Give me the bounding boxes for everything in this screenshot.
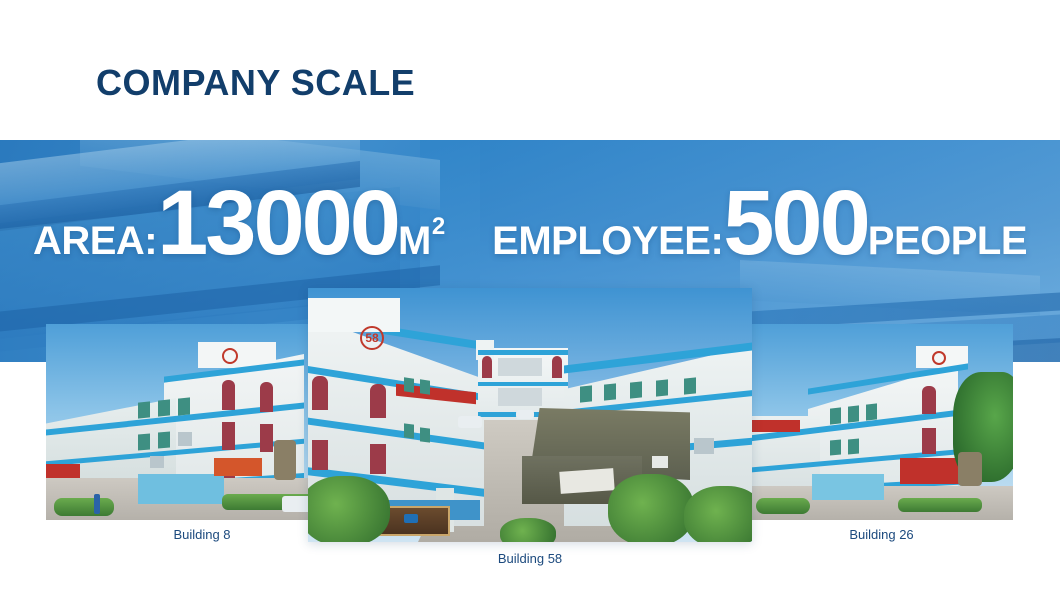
photo-gate[interactable] (138, 474, 224, 504)
photo-red-window (312, 440, 328, 470)
photo-red-window (922, 386, 936, 414)
stat-area: AREA: 13000 M 2 (33, 186, 444, 264)
stat-employee-label: EMPLOYEE: (492, 219, 723, 264)
photo-red-window (922, 428, 936, 454)
photo-green-window (580, 385, 592, 402)
photo-red-window (370, 384, 386, 418)
photo-company-logo-icon (932, 351, 946, 365)
photo-tree (500, 518, 556, 542)
stat-area-label: AREA: (33, 219, 157, 264)
photo-red-window (260, 382, 273, 412)
photo-company-logo-icon (222, 348, 238, 364)
photo-green-window (630, 381, 642, 398)
photo-ac-unit-icon (150, 456, 164, 468)
photo-green-window (604, 383, 616, 400)
photo-caption-building-26: Building 26 (750, 527, 1013, 542)
photo-bare-tree (958, 452, 982, 486)
photo-orange-sign (214, 458, 262, 476)
stat-area-unit: M (398, 219, 431, 264)
photo-green-window (404, 423, 414, 438)
photo-green-window (866, 403, 877, 420)
photo-car (516, 410, 534, 419)
photo-trim (478, 350, 568, 355)
photo-green-window (848, 405, 859, 422)
photo-green-window (848, 439, 859, 455)
photo-green-window (656, 379, 668, 396)
slide-root: COMPANY SCALE 58 AREA: 13000 M 2 EMPLOYE… (0, 0, 1060, 598)
page-title-wrap: COMPANY SCALE (96, 62, 415, 104)
photo-tree (308, 476, 390, 542)
photo-tree (608, 474, 694, 542)
photo-bare-tree (274, 440, 296, 480)
page-title: COMPANY SCALE (96, 62, 415, 104)
photo-trim (478, 382, 568, 386)
photo-green-window (684, 377, 696, 394)
photo-hedge (54, 498, 114, 516)
photo-person (94, 494, 100, 514)
photo-tree (684, 486, 752, 542)
photo-green-window (830, 440, 841, 456)
photo-window (694, 438, 714, 454)
photo-caption-building-58: Building 58 (308, 551, 752, 566)
photo-red-window (260, 424, 273, 452)
photo-green-window (158, 431, 170, 448)
photo-roof-panel (559, 468, 614, 494)
photo-hedge (898, 498, 982, 512)
photo-red-window (222, 380, 235, 410)
photo-green-window (178, 397, 190, 415)
photo-red-window (222, 422, 235, 450)
stat-area-superscript: 2 (432, 213, 445, 241)
stat-area-value: 13000 (157, 186, 398, 261)
photo-hedge (756, 498, 810, 514)
photo-green-window (158, 399, 170, 416)
photo-roof-ac-icon (652, 456, 668, 468)
photo-window-row (498, 358, 542, 376)
photo-gate[interactable] (812, 474, 884, 500)
photo-plaque-logo-icon (404, 514, 418, 523)
photo-green-window (420, 379, 430, 394)
photo-green-window (138, 433, 150, 450)
photo-green-window (138, 401, 150, 418)
photo-green-window (420, 427, 430, 442)
photo-window-row (498, 388, 542, 406)
photo-red-banner (750, 420, 800, 432)
photo-red-window (312, 376, 328, 410)
photo-red-window (482, 356, 492, 378)
photo-building-26[interactable] (750, 324, 1013, 520)
stat-employee-unit: PEOPLE (868, 219, 1027, 264)
photo-green-window (830, 407, 841, 424)
stat-employee: EMPLOYEE: 500 PEOPLE (492, 186, 1027, 264)
photo-logo-58-icon: 58 (360, 326, 384, 350)
photo-building-58[interactable]: 58 (308, 288, 752, 542)
photo-tower-cap (308, 298, 400, 332)
stat-employee-value: 500 (723, 186, 868, 261)
photo-green-window (404, 377, 414, 392)
photo-red-banner (46, 464, 80, 478)
photo-car (458, 416, 482, 428)
photo-red-window (370, 444, 386, 474)
photo-red-window (552, 356, 562, 378)
photo-ac-unit-icon (178, 432, 192, 446)
